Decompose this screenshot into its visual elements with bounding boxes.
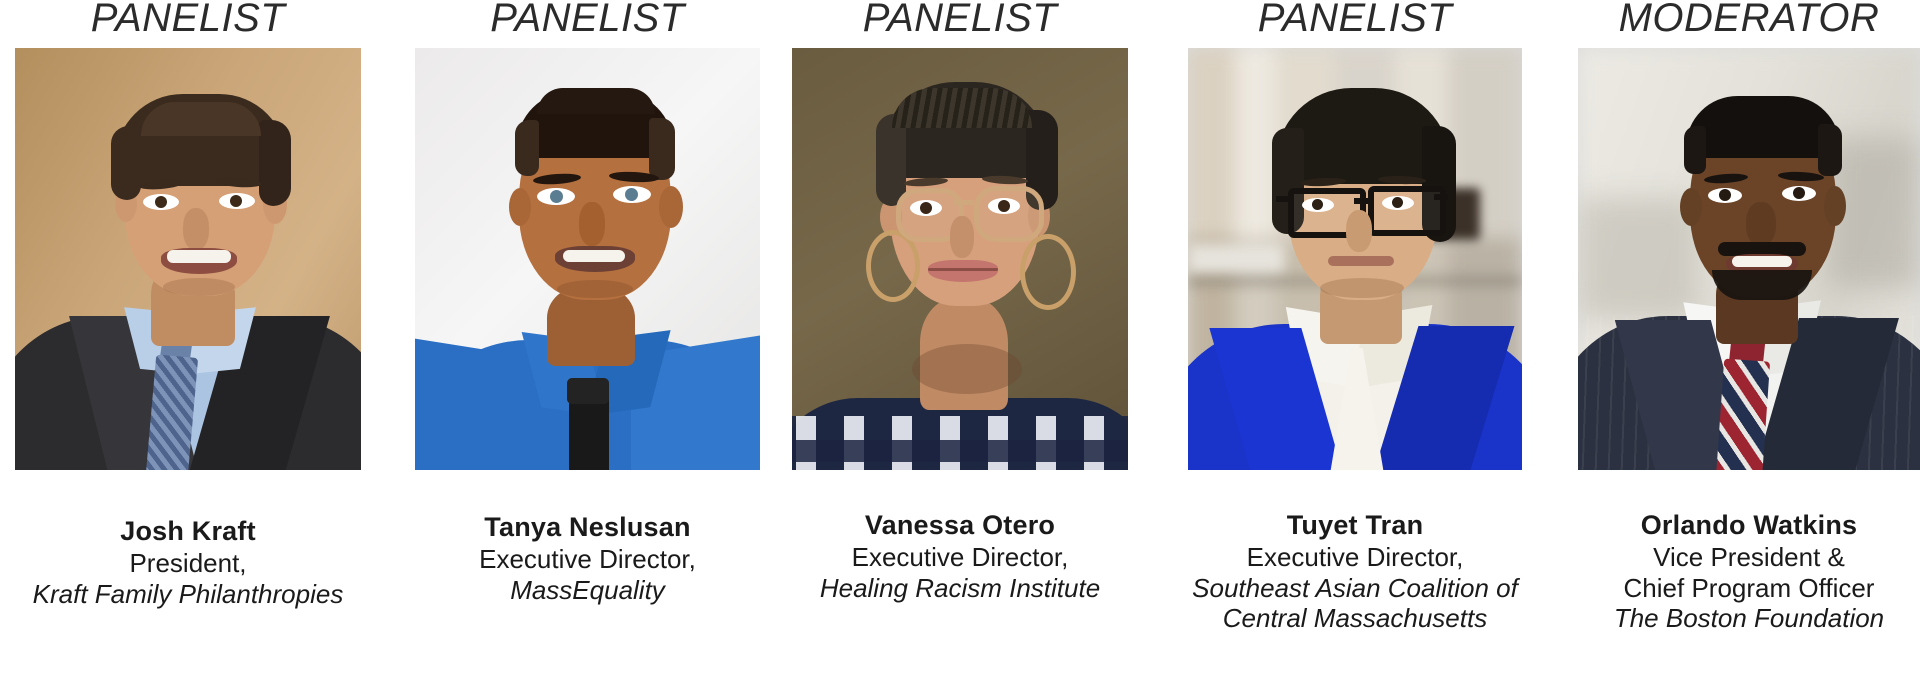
speaker-panel-board: PANELIST (0, 0, 1920, 700)
speaker-org-3: Healing Racism Institute (772, 573, 1148, 604)
speaker-title-line-4: Executive Director, (1168, 542, 1542, 573)
earring-right (1020, 234, 1076, 310)
speaker-title-line-5b: Chief Program Officer (1558, 573, 1920, 604)
speaker-name-2: Tanya Neslusan (395, 512, 780, 544)
speaker-name-5: Orlando Watkins (1558, 510, 1920, 542)
speaker-org-4-line-1: Southeast Asian Coalition of (1168, 573, 1542, 604)
headshot-photo-1 (15, 48, 361, 470)
speaker-title-line-1: President, (0, 548, 381, 579)
speaker-org-4-line-2: Central Massachusetts (1168, 603, 1542, 634)
speaker-org-5: The Boston Foundation (1558, 603, 1920, 634)
speaker-name-4: Tuyet Tran (1168, 510, 1542, 542)
role-label-1: PANELIST (15, 0, 361, 41)
speaker-name-1: Josh Kraft (0, 516, 381, 548)
caption-block-1: Josh Kraft President, Kraft Family Phila… (0, 516, 381, 609)
role-label-5: MODERATOR (1578, 0, 1920, 41)
speaker-card-5: MODERATOR (1578, 0, 1920, 700)
speaker-org-2: MassEquality (395, 575, 780, 606)
speaker-card-2: PANELIST (415, 0, 760, 700)
headshot-photo-3 (792, 48, 1128, 470)
speaker-card-3: PANELIST (792, 0, 1128, 700)
role-label-2: PANELIST (415, 0, 760, 41)
speaker-org-1: Kraft Family Philanthropies (0, 579, 381, 610)
caption-block-3: Vanessa Otero Executive Director, Healin… (772, 510, 1148, 603)
speaker-card-1: PANELIST (15, 0, 361, 700)
speaker-name-3: Vanessa Otero (772, 510, 1148, 542)
speaker-title-line-2: Executive Director, (395, 544, 780, 575)
speaker-card-4: PANELIST (1188, 0, 1522, 700)
speaker-title-line-3: Executive Director, (772, 542, 1148, 573)
caption-block-2: Tanya Neslusan Executive Director, MassE… (395, 512, 780, 605)
caption-block-5: Orlando Watkins Vice President & Chief P… (1558, 510, 1920, 634)
headshot-photo-2 (415, 48, 760, 470)
headshot-photo-5 (1578, 48, 1920, 470)
headshot-photo-4 (1188, 48, 1522, 470)
role-label-4: PANELIST (1188, 0, 1522, 41)
speaker-title-line-5a: Vice President & (1558, 542, 1920, 573)
caption-block-4: Tuyet Tran Executive Director, Southeast… (1168, 510, 1542, 634)
role-label-3: PANELIST (792, 0, 1128, 41)
